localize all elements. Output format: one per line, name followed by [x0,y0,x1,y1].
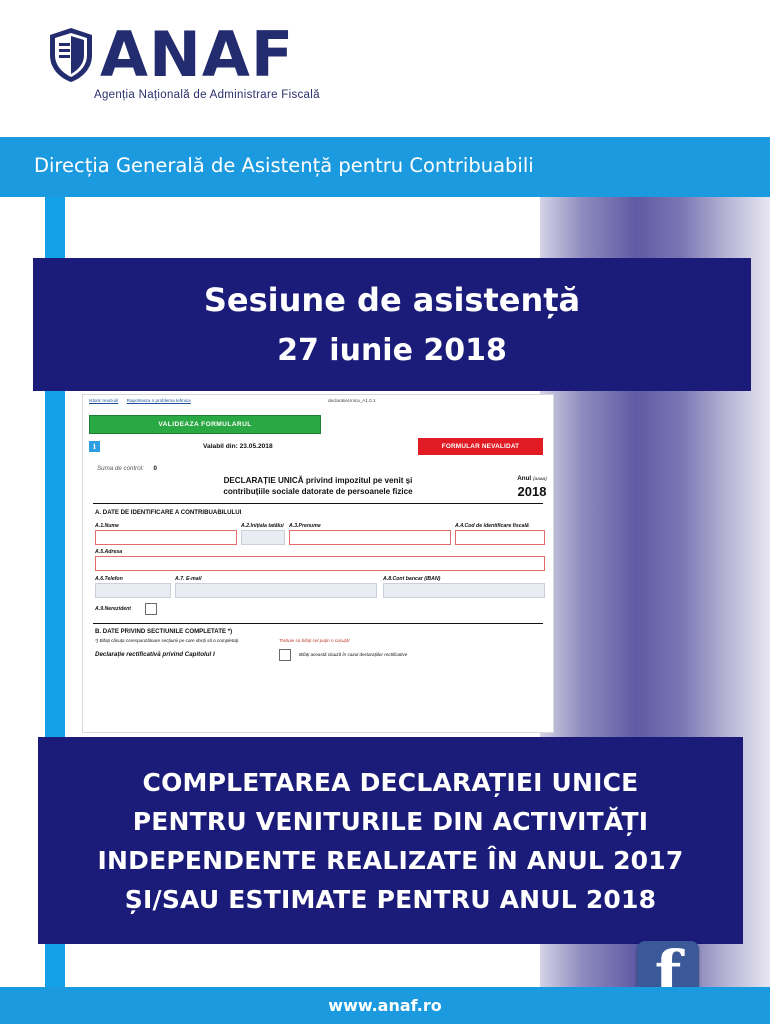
form-version-label: declaratieUnica_A1.0.1 [328,398,376,403]
header-title: Direcția Generală de Asistență pentru Co… [34,154,534,177]
divider-1 [93,503,543,504]
anaf-logo: ANAF Agenția Națională de Administrare F… [48,26,348,116]
valid-from-label: Valabil din: 23.05.2018 [203,443,273,450]
topic-line3: INDEPENDENTE REALIZATE ÎN ANUL 2017 [98,841,684,880]
input-a5-adresa[interactable] [95,556,545,571]
label-declaratie-rectificativa: Declarație rectificativă privind Capitol… [95,651,215,658]
year-block: Anul (aaaa) 2018 [503,475,554,499]
hint-declaratie-rectificativa: Bifați această clauză în cazul declarați… [299,652,407,657]
logo-subtitle: Agenția Națională de Administrare Fiscal… [94,89,348,101]
section-b-note-warning: Trebuie sa bifați cel puțin o casuță! [279,638,350,643]
topic-line1: COMPLETAREA DECLARAȚIEI UNICE [143,763,639,802]
header-bar: Direcția Generală de Asistență pentru Co… [0,137,770,197]
year-value: 2018 [503,484,554,499]
session-title-box: Sesiune de asistență 27 iunie 2018 [33,258,751,391]
footer-url[interactable]: www.anaf.ro [0,996,770,1015]
year-label-text: Anul [517,475,531,482]
label-a1-nume: A.1.Nume [95,523,119,529]
document-title-line2: contribuțiile sociale datorate de persoa… [143,486,493,497]
label-a9-nerezident: A.9.Nerezident [95,606,131,612]
input-a7-email[interactable] [175,583,377,598]
section-b-note: *) Bifați căsuța corespunzătoare secțiun… [95,638,239,643]
topic-line4: ȘI/SAU ESTIMATE PENTRU ANUL 2018 [125,880,656,919]
top-band: ANAF Agenția Națională de Administrare F… [0,0,770,137]
year-label: Anul (aaaa) [503,475,554,482]
section-a-title: A. DATE DE IDENTIFICARE A CONTRIBUABILUL… [95,509,241,516]
input-a2-initiala[interactable] [241,530,285,545]
status-badge: FORMULAR NEVALIDAT [418,438,543,455]
footer-bar: www.anaf.ro [0,987,770,1024]
section-b-title: B. DATE PRIVIND SECTIUNILE COMPLETATE *) [95,628,232,635]
input-a3-prenume[interactable] [289,530,451,545]
topic-line2: PENTRU VENITURILE DIN ACTIVITĂȚI [133,802,649,841]
validate-form-button[interactable]: VALIDEAZA FORMULARUL [89,415,321,434]
checksum-row: Suma de control: 0 [97,465,157,472]
form-links: Istoric revizuiri Raporteaza o problema … [89,398,198,403]
label-a8-iban: A.8.Cont bancar (IBAN) [383,576,440,582]
label-a5-adresa: A.5.Adresa [95,549,122,555]
link-raporteaza-problema[interactable]: Raporteaza o problema tehnica [127,398,191,403]
info-icon[interactable]: i [89,441,100,452]
label-a2-initiala: A.2.Inițiala tatălui [241,523,284,529]
form-screenshot: Istoric revizuiri Raporteaza o problema … [82,394,554,733]
document-title-line1: DECLARAȚIE UNICĂ privind impozitul pe ve… [143,475,493,486]
checksum-label: Suma de control: [97,465,144,472]
link-istoric-revizuiri[interactable]: Istoric revizuiri [89,398,118,403]
input-a6-telefon[interactable] [95,583,171,598]
checksum-value: 0 [154,465,157,472]
divider-2 [93,623,543,624]
input-a1-nume[interactable] [95,530,237,545]
session-title-line1: Sesiune de asistență [204,281,580,319]
logo-wordmark: ANAF [100,26,294,84]
input-a4-cif[interactable] [455,530,545,545]
session-title-line2: 27 iunie 2018 [277,333,507,368]
shield-icon [48,27,94,83]
checkbox-a9-nerezident[interactable] [145,603,157,615]
label-a4-cif: A.4.Cod de identificare fiscală [455,523,529,529]
topic-title-box: COMPLETAREA DECLARAȚIEI UNICE PENTRU VEN… [38,737,743,944]
label-a7-email: A.7. E-mail [175,576,202,582]
label-a6-telefon: A.6.Telefon [95,576,123,582]
input-a8-iban[interactable] [383,583,545,598]
checkbox-declaratie-rectificativa[interactable] [279,649,291,661]
year-label-hint: (aaaa) [533,477,547,482]
label-a3-prenume: A.3.Prenume [289,523,321,529]
document-title: DECLARAȚIE UNICĂ privind impozitul pe ve… [143,475,493,497]
